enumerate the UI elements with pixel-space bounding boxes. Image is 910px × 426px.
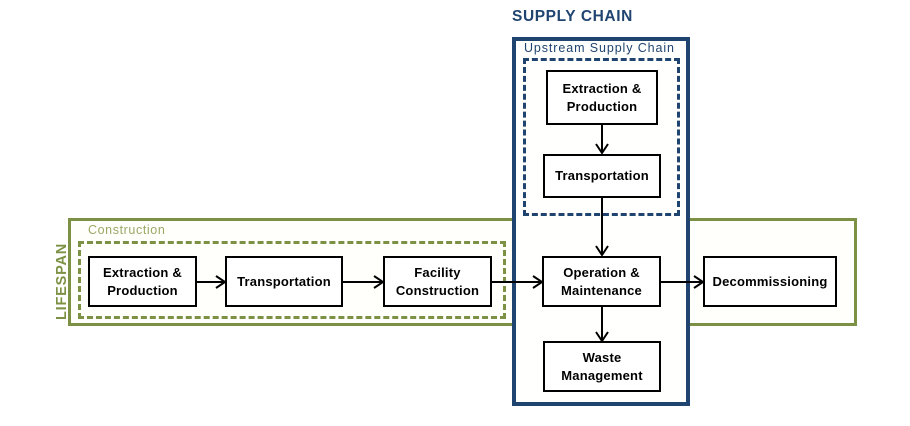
box-operation-maintenance[interactable]: Operation & Maintenance xyxy=(542,256,661,307)
line-1: Operation & xyxy=(561,264,642,282)
arrow-operation-to-decommissioning xyxy=(661,274,705,290)
line-2: Management xyxy=(561,367,642,385)
construction-label: Construction xyxy=(88,223,165,237)
line-1: Transportation xyxy=(555,167,649,185)
line-1: Extraction & xyxy=(563,80,642,98)
supply-chain-title: SUPPLY CHAIN xyxy=(512,8,633,26)
arrow-operation-to-waste-management xyxy=(594,307,610,343)
line-2: Construction xyxy=(396,282,479,300)
diagram-canvas: SUPPLY CHAIN LIFESPAN Upstream Supply Ch… xyxy=(0,0,910,426)
box-facility-construction-label: Facility Construction xyxy=(396,264,479,299)
arrow-construction-transportation-to-facility xyxy=(343,274,385,290)
lifespan-title: LIFESPAN xyxy=(54,243,70,320)
box-construction-transportation[interactable]: Transportation xyxy=(225,256,343,307)
line-2: Production xyxy=(103,282,182,300)
line-2: Maintenance xyxy=(561,282,642,300)
box-decommissioning[interactable]: Decommissioning xyxy=(703,256,837,307)
box-waste-management-label: Waste Management xyxy=(561,349,642,384)
line-1: Decommissioning xyxy=(713,273,828,291)
box-decommissioning-label: Decommissioning xyxy=(713,273,828,291)
box-construction-extraction-production[interactable]: Extraction & Production xyxy=(88,256,197,307)
box-construction-extraction-production-label: Extraction & Production xyxy=(103,264,182,299)
box-operation-maintenance-label: Operation & Maintenance xyxy=(561,264,642,299)
box-upstream-extraction-production[interactable]: Extraction & Production xyxy=(546,70,658,125)
line-1: Extraction & xyxy=(103,264,182,282)
box-upstream-transportation-label: Transportation xyxy=(555,167,649,185)
line-1: Facility xyxy=(396,264,479,282)
line-1: Transportation xyxy=(237,273,331,291)
arrow-construction-extraction-to-transportation xyxy=(197,274,227,290)
box-waste-management[interactable]: Waste Management xyxy=(543,341,661,392)
box-upstream-transportation[interactable]: Transportation xyxy=(543,154,661,198)
arrow-upstream-transportation-to-operation xyxy=(594,198,610,257)
arrow-upstream-extraction-to-transportation xyxy=(594,125,610,155)
box-construction-transportation-label: Transportation xyxy=(237,273,331,291)
arrow-facility-to-operation-maintenance xyxy=(492,274,544,290)
box-upstream-extraction-production-label: Extraction & Production xyxy=(563,80,642,115)
upstream-supply-chain-label: Upstream Supply Chain xyxy=(524,41,675,55)
line-2: Production xyxy=(563,98,642,116)
line-1: Waste xyxy=(561,349,642,367)
box-facility-construction[interactable]: Facility Construction xyxy=(383,256,492,307)
